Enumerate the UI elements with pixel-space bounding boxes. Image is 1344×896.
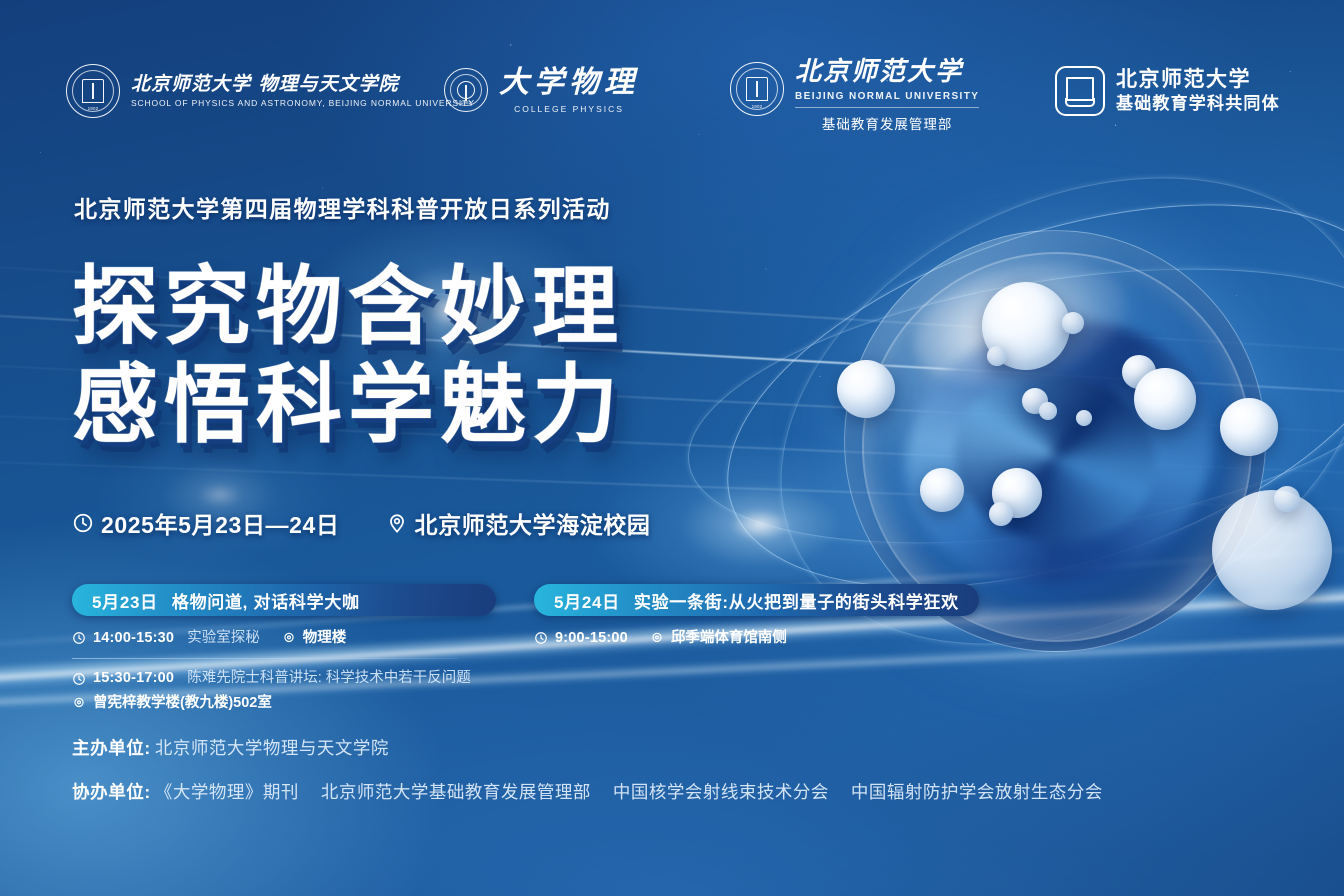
schedule-entry-time: 9:00-15:00 [555, 627, 628, 649]
particle-ball [1062, 312, 1084, 334]
seal-emblem-icon [82, 79, 104, 103]
seal-emblem-icon [746, 77, 768, 101]
schedule-section: 5月23日 格物问道, 对话科学大咖 14:00-15:30 实验室探秘 [72, 584, 979, 714]
university-seal-icon: 1902 [730, 62, 784, 116]
seal-year-label: 1982 [461, 100, 472, 105]
schedule-day-2-header[interactable]: 5月24日 实验一条街:从火把到量子的街头科学狂欢 [534, 584, 979, 616]
page-title: 探究物含妙理 感悟科学魅力 [72, 258, 624, 454]
partner-logo-row: 1902 北京师范大学 物理与天文学院 SCHOOL OF PHYSICS AN… [0, 52, 1344, 144]
logo-name-cn: 北京师范大学 [795, 58, 979, 88]
schedule-day-1: 5月23日 格物问道, 对话科学大咖 14:00-15:30 实验室探秘 [72, 584, 496, 714]
logo-name-cn: 大学物理 [499, 66, 639, 101]
book-emblem-icon [1055, 66, 1105, 116]
orbit-ring [669, 224, 1344, 589]
logo-name-cn: 北京师范大学 [1116, 68, 1280, 92]
particle-ball [989, 502, 1013, 526]
logo-name-cn: 北京师范大学 物理与天文学院 [131, 74, 475, 96]
schedule-entry-place: 曾宪梓教学楼(教九楼)502室 [93, 692, 272, 714]
university-seal-icon: 1902 [66, 64, 120, 118]
co-organizer-line: 协办单位: 《大学物理》期刊北京师范大学基础教育发展管理部中国核学会射线束技术分… [72, 784, 1103, 802]
schedule-day-1-date: 5月23日 [92, 588, 158, 613]
particle-ball [992, 468, 1042, 518]
host-organizer-line: 主办单位: 北京师范大学物理与天文学院 [72, 740, 1103, 758]
logo-department-cn: 基础教育发展管理部 [795, 107, 979, 133]
schedule-day-1-rows: 14:00-15:30 实验室探秘 物理楼 [72, 627, 496, 714]
co-organizer-values: 《大学物理》期刊北京师范大学基础教育发展管理部中国核学会射线束技术分会中国辐射防… [155, 784, 1103, 802]
logo-beijing-normal-university: 1902 北京师范大学 BEIJING NORMAL UNIVERSITY 基础… [730, 58, 979, 133]
schedule-entry-place-row: 曾宪梓教学楼(教九楼)502室 [72, 692, 496, 714]
host-organizer-value: 北京师范大学物理与天文学院 [155, 740, 389, 758]
seal-year-label: 1902 [752, 104, 763, 109]
particle-ball [1274, 486, 1300, 512]
clock-icon [534, 631, 548, 645]
schedule-entry-place: 物理楼 [303, 627, 347, 649]
co-organizer-item: 中国辐射防护学会放射生态分会 [851, 782, 1103, 802]
logo-subname-cn: 基础教育学科共同体 [1116, 94, 1280, 114]
particle-ball [987, 346, 1007, 366]
logo-school-of-physics-astronomy: 1902 北京师范大学 物理与天文学院 SCHOOL OF PHYSICS AN… [66, 64, 475, 118]
schedule-entry-desc: 实验室探秘 [187, 627, 260, 649]
event-meta: 2025年5月23日—24日 北京师范大学海淀校园 [72, 506, 651, 540]
logo-name-en: COLLEGE PHYSICS [499, 104, 639, 114]
schedule-day-2: 5月24日 实验一条街:从火把到量子的街头科学狂欢 9:00-15:00 [534, 584, 979, 714]
seal-year-label: 1902 [88, 106, 99, 111]
schedule-entry: 9:00-15:00 邱季端体育馆南侧 [534, 627, 979, 649]
sphere-swirl-inner [939, 355, 1171, 561]
schedule-day-2-theme: 实验一条街:从火把到量子的街头科学狂欢 [634, 588, 959, 613]
schedule-day-2-date: 5月24日 [554, 588, 620, 613]
particle-ball [1220, 398, 1278, 456]
schedule-entry-desc: 陈难先院士科普讲坛: 科学技术中若干反问题 [187, 667, 471, 689]
schedule-entry: 15:30-17:00 陈难先院士科普讲坛: 科学技术中若干反问题 [72, 667, 496, 689]
schedule-day-1-theme: 格物问道, 对话科学大咖 [172, 588, 360, 613]
location-pin-icon [282, 631, 296, 645]
schedule-entry-time: 15:30-17:00 [93, 667, 174, 689]
orbit-ring [680, 130, 1344, 663]
co-organizer-item: 北京师范大学基础教育发展管理部 [321, 782, 591, 802]
schedule-divider [72, 658, 458, 659]
particle-ball [1212, 490, 1332, 610]
event-location-text: 北京师范大学海淀校园 [415, 506, 651, 540]
schedule-entry-time: 14:00-15:30 [93, 627, 174, 649]
particle-ball [1076, 410, 1092, 426]
co-organizer-item: 中国核学会射线束技术分会 [613, 782, 829, 802]
particle-ball [1022, 388, 1048, 414]
journal-seal-icon: 1982 [444, 68, 488, 112]
particle-ball [1134, 368, 1196, 430]
event-date-text: 2025年5月23日—24日 [101, 506, 340, 540]
seal-emblem-icon [457, 81, 475, 99]
clock-icon [72, 512, 94, 534]
event-kicker: 北京师范大学第四届物理学科科普开放日系列活动 [74, 190, 611, 224]
co-organizer-item: 《大学物理》期刊 [155, 782, 299, 802]
clock-icon [72, 672, 86, 686]
schedule-entry: 14:00-15:30 实验室探秘 物理楼 [72, 627, 496, 649]
schedule-day-1-header[interactable]: 5月23日 格物问道, 对话科学大咖 [72, 584, 496, 616]
particle-ball [982, 282, 1070, 370]
footer-organizers: 主办单位: 北京师范大学物理与天文学院 协办单位: 《大学物理》期刊北京师范大学… [72, 740, 1103, 827]
particle-ball [920, 468, 964, 512]
host-organizer-label: 主办单位: [72, 740, 151, 758]
location-pin-icon [386, 512, 408, 534]
sphere-highlight [901, 240, 1141, 407]
logo-college-physics: 1982 大学物理 COLLEGE PHYSICS [444, 66, 639, 114]
particle-ball [1122, 355, 1156, 389]
clock-icon [72, 631, 86, 645]
event-location-group: 北京师范大学海淀校园 [386, 506, 651, 540]
location-pin-icon [650, 631, 664, 645]
logo-name-en: SCHOOL OF PHYSICS AND ASTRONOMY, BEIJING… [131, 98, 475, 108]
poster-canvas: 1902 北京师范大学 物理与天文学院 SCHOOL OF PHYSICS AN… [0, 0, 1344, 896]
logo-name-en: BEIJING NORMAL UNIVERSITY [795, 91, 979, 102]
logo-bnu-basic-education-consortium: 北京师范大学 基础教育学科共同体 [1055, 66, 1280, 116]
particle-ball [837, 360, 895, 418]
sphere-swirl [874, 286, 1245, 622]
schedule-entry-place: 邱季端体育馆南侧 [671, 627, 787, 649]
particle-ball [1039, 402, 1057, 420]
location-pin-icon [72, 696, 86, 710]
schedule-day-2-rows: 9:00-15:00 邱季端体育馆南侧 [534, 627, 979, 649]
title-line-2: 感悟科学魅力 [72, 356, 624, 454]
event-date-group: 2025年5月23日—24日 [72, 506, 340, 540]
title-line-1: 探究物含妙理 [72, 258, 624, 356]
co-organizer-label: 协办单位: [72, 784, 151, 802]
